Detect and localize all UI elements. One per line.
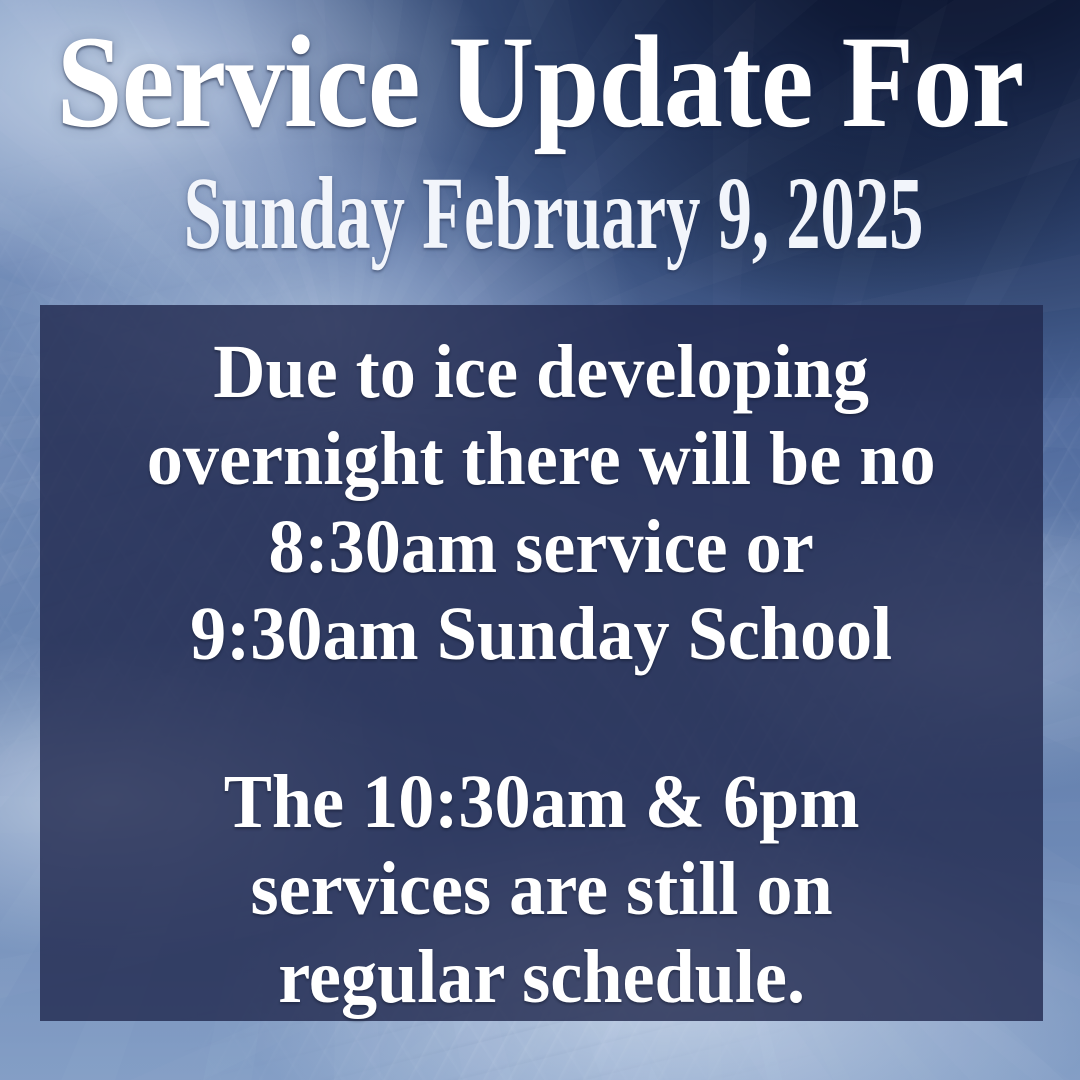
message-panel: Due to ice developing overnight there wi… xyxy=(40,305,1043,1021)
poster-title: Service Update For xyxy=(54,0,1026,148)
heading-block: Service Update For Sunday February 9, 20… xyxy=(0,0,1080,266)
poster-subtitle-date: Sunday February 9, 2025 xyxy=(184,162,897,266)
message-paragraph-cancellations: Due to ice developing overnight there wi… xyxy=(147,329,936,679)
message-paragraph-unchanged-services: The 10:30am & 6pm services are still on … xyxy=(224,759,860,1021)
announcement-poster: Service Update For Sunday February 9, 20… xyxy=(0,0,1080,1080)
message-panel-content: Due to ice developing overnight there wi… xyxy=(40,305,1043,1021)
